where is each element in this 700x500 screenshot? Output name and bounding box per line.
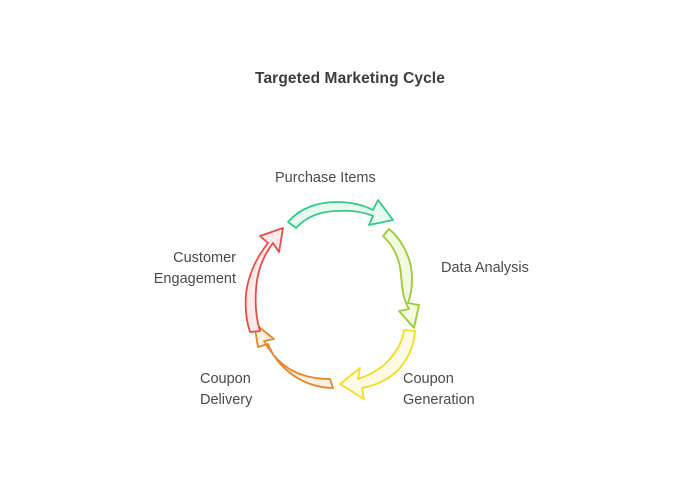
cycle-arrow-data-analysis [383, 229, 419, 328]
cycle-label-coupon-generation: Coupon Generation [403, 369, 475, 411]
arrow-body-customer-engagement [246, 228, 283, 332]
cycle-label-data-analysis: Data Analysis [441, 258, 529, 279]
cycle-arrow-purchase-items [288, 200, 393, 228]
cycle-label-customer-engagement: Customer Engagement [103, 248, 236, 290]
diagram-canvas: Targeted Marketing Cycle Purchase Items … [0, 0, 700, 500]
cycle-label-purchase-items: Purchase Items [275, 168, 376, 189]
arrow-body-purchase-items [288, 200, 393, 228]
arrow-body-coupon-delivery [254, 323, 333, 388]
cycle-label-coupon-delivery: Coupon Delivery [200, 369, 252, 411]
cycle-arrow-coupon-delivery [254, 323, 333, 388]
arrow-body-data-analysis [383, 229, 419, 328]
cycle-arrow-customer-engagement [246, 228, 283, 332]
